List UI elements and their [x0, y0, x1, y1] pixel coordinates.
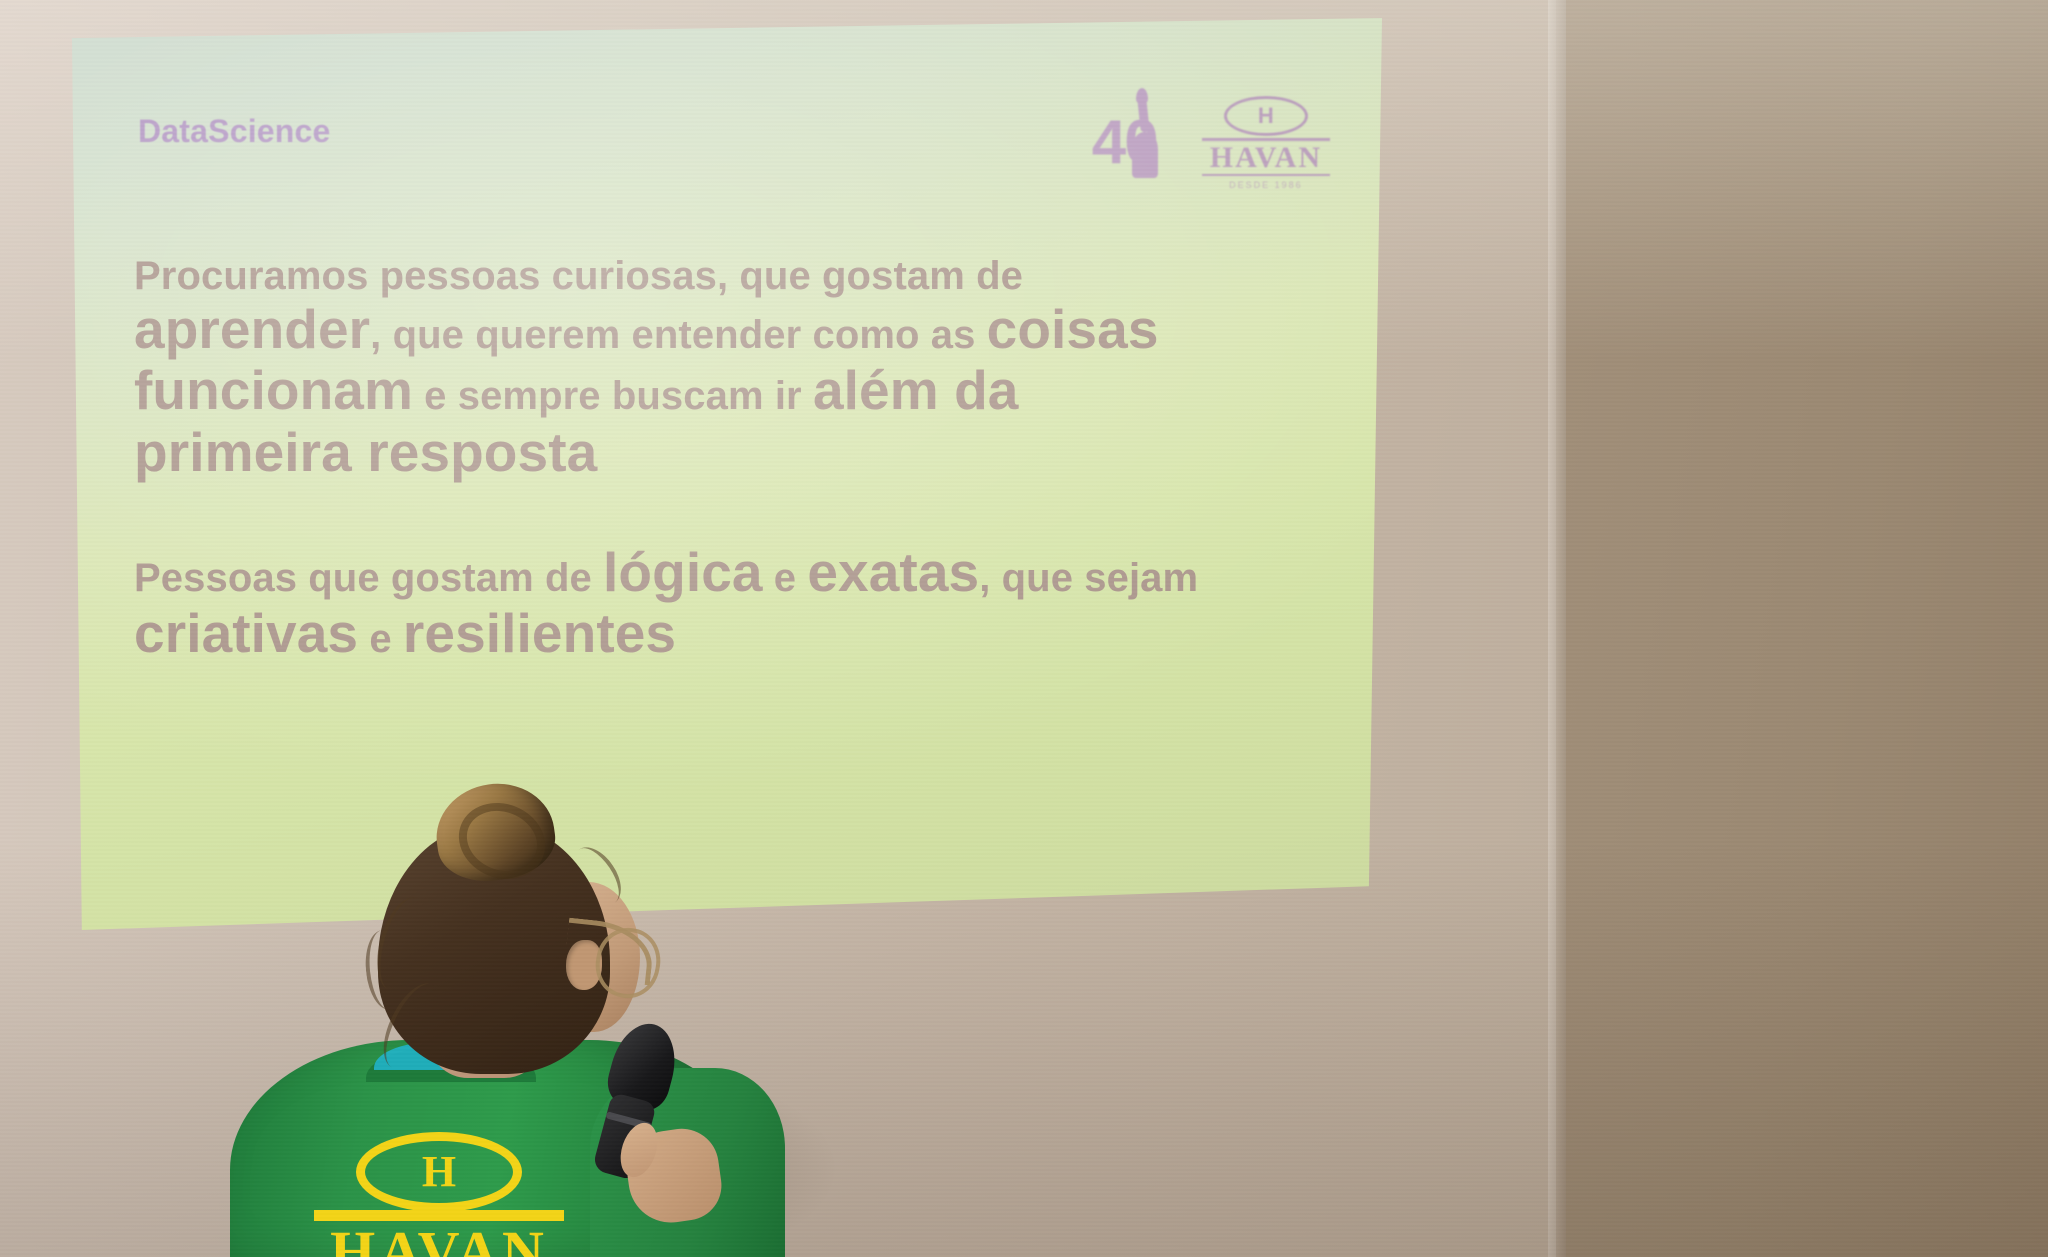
text-run: resilientes: [403, 602, 676, 664]
slide-paragraph-2: Pessoas que gostam de lógica e exatas, q…: [134, 542, 1314, 665]
havan-wordmark: HAVAN: [1202, 138, 1330, 176]
projected-slide: DataScience 40 H HAVAN DESDE 1986 Procur…: [72, 18, 1382, 930]
text-run: Pessoas que gostam de: [134, 556, 603, 600]
slide-line: aprender, que querem entender como as co…: [134, 299, 1314, 361]
statue-figure-icon: [1132, 132, 1158, 178]
slide-line: funcionam e sempre buscam ir além da: [134, 360, 1314, 422]
anniversary-40-icon: 40: [1092, 104, 1188, 182]
text-run: Procuramos pessoas curiosas, que gostam …: [134, 254, 1023, 298]
wall-right-panel: [1566, 0, 2048, 1257]
text-run: , que sejam: [979, 556, 1198, 600]
shirt-wordmark: HAVAN: [314, 1210, 564, 1257]
text-run: e: [763, 556, 808, 600]
text-run: criativas: [134, 602, 358, 664]
text-run: aprender: [134, 298, 370, 360]
havan-initial-badge: H: [1224, 96, 1308, 136]
shirt-havan-logo: H HAVAN ACREDITA: [314, 1132, 564, 1257]
slide-paragraph-1: Procuramos pessoas curiosas, que gostam …: [134, 254, 1314, 484]
paragraph-spacer: [134, 494, 1314, 542]
slide-line: criativas e resilientes: [134, 603, 1314, 665]
text-run: exatas: [807, 541, 979, 603]
text-run: primeira resposta: [134, 421, 597, 483]
slide-line: Procuramos pessoas curiosas, que gostam …: [134, 254, 1314, 299]
screenshot-root: DataScience 40 H HAVAN DESDE 1986 Procur…: [0, 0, 2048, 1257]
wall-corner-edge: [1548, 0, 1568, 1257]
text-run: funcionam: [134, 359, 413, 421]
shirt-initial-badge: H: [356, 1132, 522, 1212]
slide-body-text: Procuramos pessoas curiosas, que gostam …: [134, 254, 1314, 675]
slide-title: DataScience: [138, 113, 331, 150]
slide-line: primeira resposta: [134, 422, 1314, 484]
text-run: e sempre buscam ir: [413, 374, 813, 418]
text-run: , que querem entender como as: [370, 313, 987, 357]
presenter-figure: H HAVAN ACREDITA: [230, 800, 790, 1257]
text-run: lógica: [603, 541, 763, 603]
havan-anniversary-logo: 40 H HAVAN DESDE 1986: [1092, 96, 1330, 190]
text-run: e: [358, 617, 403, 661]
slide-line: Pessoas que gostam de lógica e exatas, q…: [134, 542, 1314, 604]
text-run: além da: [813, 359, 1019, 421]
text-run: coisas: [987, 298, 1159, 360]
havan-brand-logo: H HAVAN DESDE 1986: [1202, 96, 1330, 190]
havan-since-label: DESDE 1986: [1229, 180, 1303, 190]
